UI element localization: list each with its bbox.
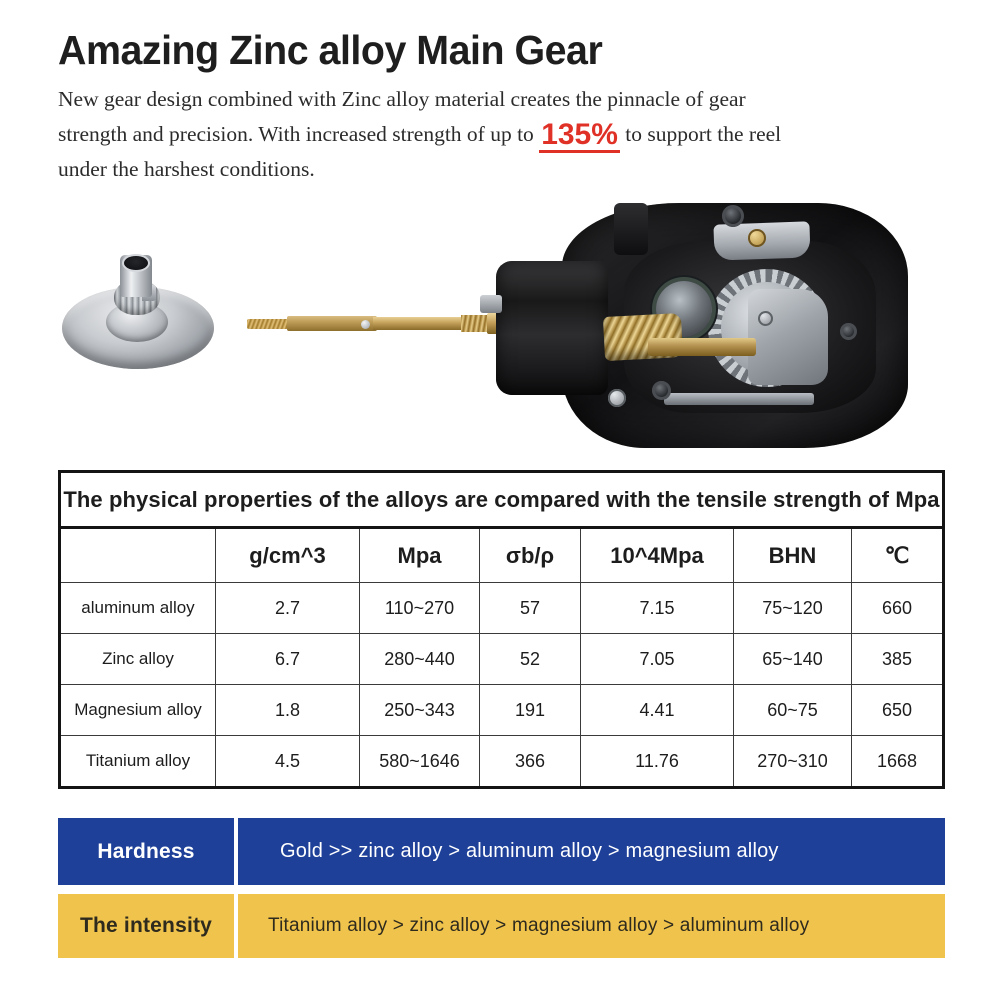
intensity-banner: The intensity Titanium alloy > zinc allo… xyxy=(58,894,945,958)
table-body: aluminum alloy 2.7 110~270 57 7.15 75~12… xyxy=(60,583,944,788)
cell-sbp: 366 xyxy=(480,736,581,788)
cell-mpa4: 7.15 xyxy=(581,583,734,634)
main-gear-photo xyxy=(62,255,214,370)
cell-alloy-name: Titanium alloy xyxy=(60,736,216,788)
cell-mpa4: 7.05 xyxy=(581,634,734,685)
table-caption-row: The physical properties of the alloys ar… xyxy=(60,472,944,528)
cell-bhn: 60~75 xyxy=(734,685,852,736)
gearbox-mount-hole-bottom xyxy=(652,381,671,400)
cell-mpa4: 4.41 xyxy=(581,685,734,736)
cell-mpa: 110~270 xyxy=(360,583,480,634)
gearbox-mount-hole-top xyxy=(722,205,744,227)
ranking-banners: Hardness Gold >> zinc alloy > aluminum a… xyxy=(58,818,945,967)
cell-bhn: 270~310 xyxy=(734,736,852,788)
col-header-bhn: BHN xyxy=(734,528,852,583)
cell-alloy-name: aluminum alloy xyxy=(60,583,216,634)
shaft-thread-tip xyxy=(247,319,289,329)
table-header-row: g/cm^3 Mpa σb/ρ 10^4Mpa BHN ℃ xyxy=(60,528,944,583)
gearbox-motor-barrel xyxy=(496,261,608,395)
col-header-sbp: σb/ρ xyxy=(480,528,581,583)
table-row: Magnesium alloy 1.8 250~343 191 4.41 60~… xyxy=(60,685,944,736)
table-row: Titanium alloy 4.5 580~1646 366 11.76 27… xyxy=(60,736,944,788)
cell-sbp: 57 xyxy=(480,583,581,634)
header-block: Amazing Zinc alloy Main Gear New gear de… xyxy=(58,28,958,186)
cell-mpa: 280~440 xyxy=(360,634,480,685)
table-caption: The physical properties of the alloys ar… xyxy=(60,472,944,528)
gearbox-retainer-screw xyxy=(748,229,766,247)
table-row: Zinc alloy 6.7 280~440 52 7.05 65~140 38… xyxy=(60,634,944,685)
page-subtitle: New gear design combined with Zinc alloy… xyxy=(58,82,818,186)
table-head: The physical properties of the alloys ar… xyxy=(60,472,944,583)
gearbox-mount-hole-right xyxy=(840,323,857,340)
col-header-mpa: Mpa xyxy=(360,528,480,583)
hardness-banner: Hardness Gold >> zinc alloy > aluminum a… xyxy=(58,818,945,885)
col-header-alloy xyxy=(60,528,216,583)
hardness-banner-value: Gold >> zinc alloy > aluminum alloy > ma… xyxy=(238,818,945,885)
gearbox-cam-screw xyxy=(758,311,773,326)
gearbox-lower-rail xyxy=(664,393,814,405)
cell-density: 4.5 xyxy=(216,736,360,788)
cell-bhn: 75~120 xyxy=(734,583,852,634)
cell-temp: 385 xyxy=(852,634,944,685)
intensity-banner-value: Titanium alloy > zinc alloy > magnesium … xyxy=(238,894,945,958)
strength-highlight-badge: 135% xyxy=(539,121,620,153)
col-header-density: g/cm^3 xyxy=(216,528,360,583)
cell-alloy-name: Zinc alloy xyxy=(60,634,216,685)
hardness-banner-label: Hardness xyxy=(58,818,234,885)
alloy-properties-table: The physical properties of the alloys ar… xyxy=(58,470,945,789)
cell-mpa4: 11.76 xyxy=(581,736,734,788)
table-row: aluminum alloy 2.7 110~270 57 7.15 75~12… xyxy=(60,583,944,634)
intensity-banner-label: The intensity xyxy=(58,894,234,958)
cell-sbp: 52 xyxy=(480,634,581,685)
cell-density: 1.8 xyxy=(216,685,360,736)
cell-density: 2.7 xyxy=(216,583,360,634)
gearbox-lower-screw xyxy=(608,389,626,407)
shaft-main-body xyxy=(373,317,465,330)
gearbox-assembly-photo xyxy=(496,203,908,448)
cell-density: 6.7 xyxy=(216,634,360,685)
cell-sbp: 191 xyxy=(480,685,581,736)
cell-mpa: 250~343 xyxy=(360,685,480,736)
cell-temp: 660 xyxy=(852,583,944,634)
gearbox-cam-block xyxy=(748,289,828,385)
gearbox-top-tab xyxy=(614,203,648,255)
col-header-temp: ℃ xyxy=(852,528,944,583)
cell-alloy-name: Magnesium alloy xyxy=(60,685,216,736)
drive-shaft-photo xyxy=(247,315,519,332)
cell-temp: 650 xyxy=(852,685,944,736)
page-title: Amazing Zinc alloy Main Gear xyxy=(58,28,922,74)
gearbox-motor-end-cap xyxy=(480,295,502,313)
cell-temp: 1668 xyxy=(852,736,944,788)
cell-bhn: 65~140 xyxy=(734,634,852,685)
product-photo-area xyxy=(0,195,1000,460)
gear-bore-hole xyxy=(124,256,148,270)
shaft-pin xyxy=(361,320,370,329)
col-header-mpa4: 10^4Mpa xyxy=(581,528,734,583)
gearbox-brass-crossbar xyxy=(648,338,756,356)
cell-mpa: 580~1646 xyxy=(360,736,480,788)
